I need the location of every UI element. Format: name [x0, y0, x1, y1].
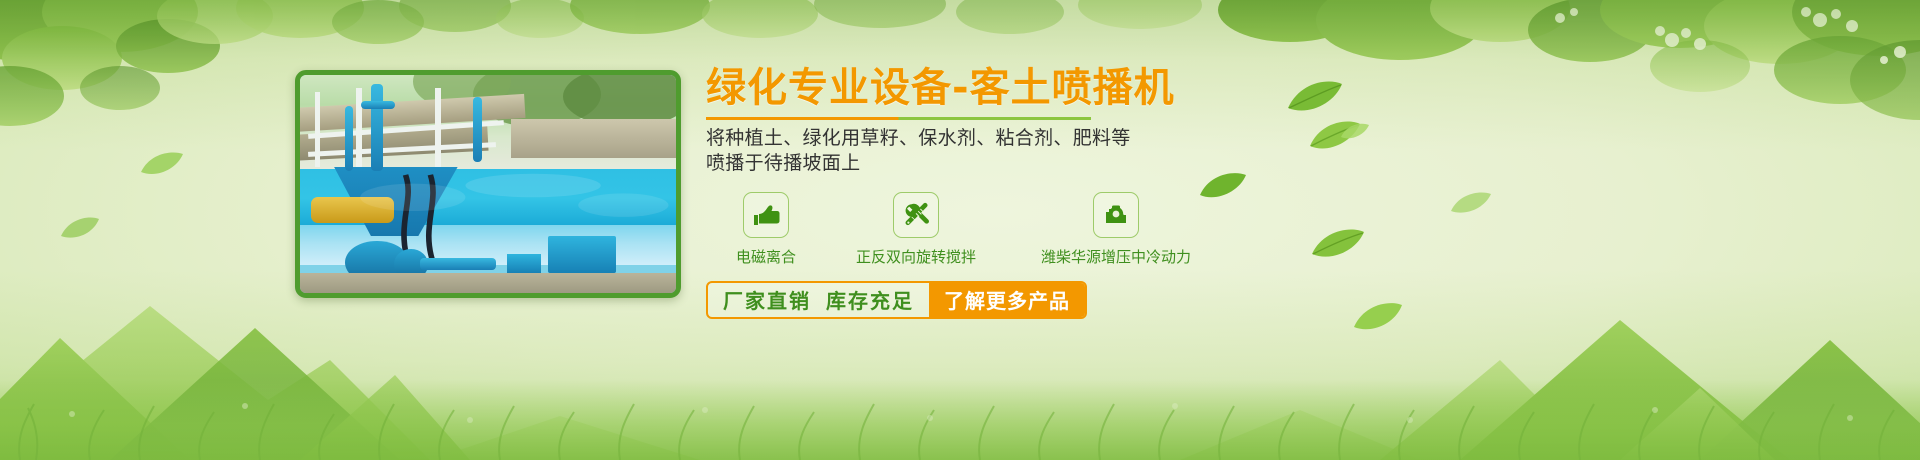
floating-leaf-icon	[140, 150, 184, 180]
engine-icon	[1093, 192, 1139, 238]
thumbs-up-glyph	[752, 201, 780, 229]
photo-railing	[356, 88, 362, 166]
grass-flowers	[69, 403, 1853, 423]
product-photo-inner	[300, 75, 676, 293]
photo-pipe	[371, 84, 383, 171]
banner-content: 绿化专业设备-客土喷播机 将种植土、绿化用草籽、保水剂、粘合剂、肥料等 喷播于待…	[706, 66, 1406, 319]
engine-glyph	[1102, 201, 1130, 229]
photo-pipe	[361, 101, 395, 109]
photo-ground	[300, 273, 676, 293]
thumbs-up-icon	[743, 192, 789, 238]
subtitle-line-1: 将种植土、绿化用草籽、保水剂、粘合剂、肥料等	[706, 126, 1406, 151]
feature-label-2: 正反双向旋转搅拌	[826, 246, 1006, 267]
feature-item-2: 正反双向旋转搅拌	[826, 192, 1006, 267]
title-divider	[706, 117, 1091, 120]
cta-text-left: 厂家直销	[708, 285, 826, 314]
photo-pipe	[473, 97, 482, 162]
floating-leaf-icon	[1450, 190, 1492, 218]
wrench-screwdriver-glyph	[902, 201, 930, 229]
promo-banner: 绿化专业设备-客土喷播机 将种植土、绿化用草籽、保水剂、粘合剂、肥料等 喷播于待…	[0, 0, 1920, 460]
blossom-cluster	[1555, 7, 1906, 64]
feature-item-3: 潍柴华源增压中冷动力	[1006, 192, 1226, 267]
product-photo	[295, 70, 681, 298]
page-title: 绿化专业设备-客土喷播机	[706, 66, 1406, 111]
feature-label-1: 电磁离合	[706, 246, 826, 267]
feature-item-1: 电磁离合	[706, 192, 826, 267]
photo-railing	[315, 92, 320, 166]
floating-leaf-icon	[60, 215, 100, 243]
photo-wall	[511, 119, 681, 158]
wrench-screwdriver-icon	[893, 192, 939, 238]
photo-pipe	[345, 106, 353, 171]
photo-highlights	[300, 162, 676, 240]
grass-svg	[0, 340, 1920, 460]
cta-bar[interactable]: 厂家直销 库存充足 了解更多产品	[706, 281, 1087, 319]
learn-more-button[interactable]: 了解更多产品	[929, 283, 1085, 317]
cta-text-right: 库存充足	[826, 285, 929, 314]
photo-control-box	[507, 254, 541, 274]
subtitle-line-2: 喷播于待播坡面上	[706, 151, 1406, 176]
feature-label-3: 潍柴华源增压中冷动力	[1006, 246, 1226, 267]
photo-control-box	[548, 236, 616, 273]
grass-foreground	[0, 340, 1920, 460]
feature-list: 电磁离合 正反双向旋转搅拌	[706, 192, 1406, 267]
photo-outlet-pipe	[420, 258, 495, 270]
photo-railing	[435, 88, 441, 166]
